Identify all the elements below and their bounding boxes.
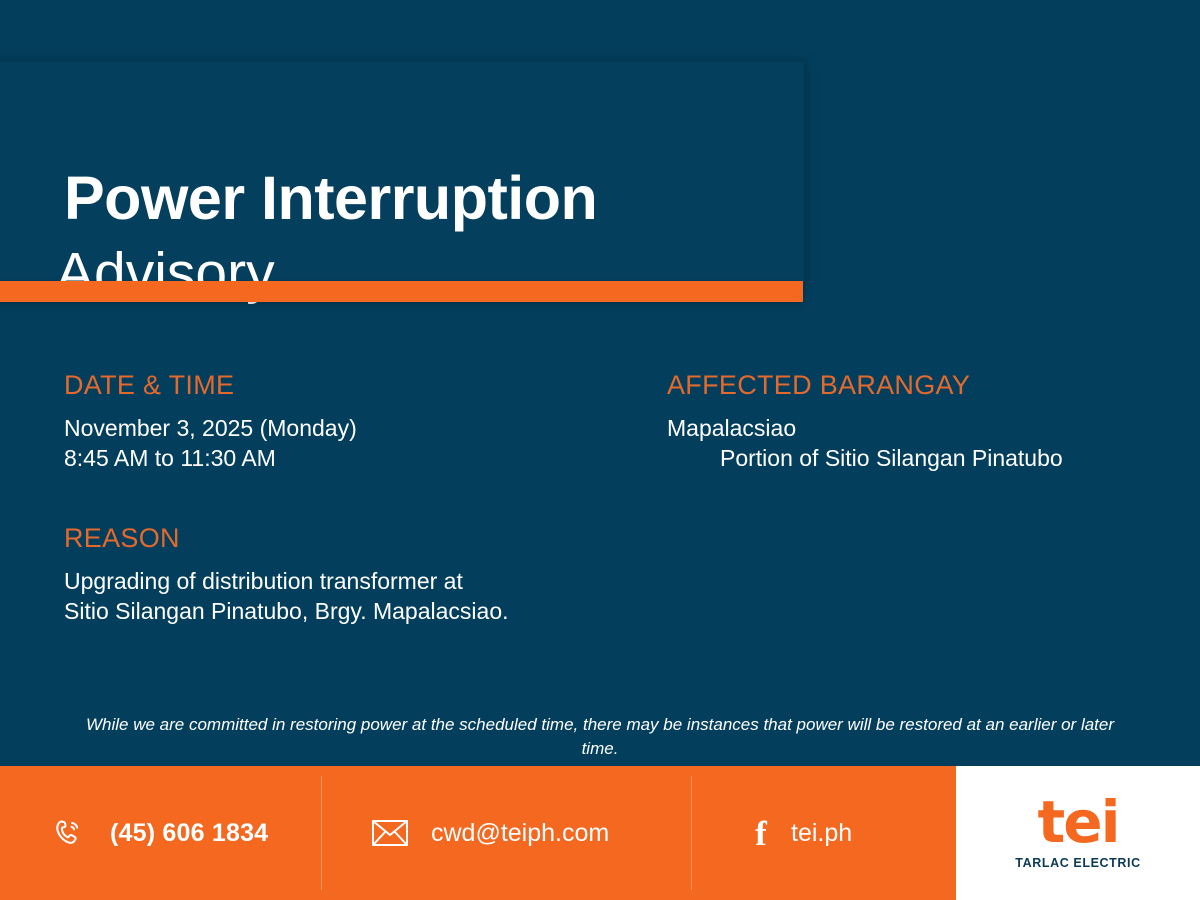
phone-number: (45) 606 1834	[110, 819, 268, 848]
footer-contact-email[interactable]: cwd@teiph.com	[321, 766, 691, 900]
page-title: Power Interruption	[64, 168, 597, 229]
section-heading-reason: REASON	[64, 523, 684, 554]
section-heading-affected-barangay: AFFECTED BARANGAY	[667, 370, 1167, 401]
barangay-name-line: Mapalacsiao	[667, 413, 1167, 443]
phone-icon	[50, 814, 88, 852]
section-heading-date-time: DATE & TIME	[64, 370, 624, 401]
footer-contact-phone[interactable]: (45) 606 1834	[0, 766, 321, 900]
reason-line-1: Upgrading of distribution transformer at	[64, 566, 684, 596]
envelope-icon	[371, 814, 409, 852]
logo-wordmark: tei	[1038, 796, 1119, 848]
date-line: November 3, 2025 (Monday)	[64, 413, 624, 443]
footer-contact-facebook[interactable]: f tei.ph	[691, 766, 956, 900]
barangay-portion-line: Portion of Sitio Silangan Pinatubo	[667, 443, 1167, 473]
footer: (45) 606 1834 cwd@teiph.com f tei.ph tei…	[0, 766, 1200, 900]
section-affected-barangay: AFFECTED BARANGAY Mapalacsiao Portion of…	[667, 370, 1167, 473]
section-body-affected-barangay: Mapalacsiao Portion of Sitio Silangan Pi…	[667, 413, 1167, 473]
facebook-icon: f	[749, 814, 773, 852]
facebook-handle: tei.ph	[791, 819, 852, 848]
section-date-time: DATE & TIME November 3, 2025 (Monday) 8:…	[64, 370, 624, 473]
accent-bar	[0, 281, 803, 302]
logo-subtitle: TARLAC ELECTRIC	[1015, 856, 1140, 870]
section-body-reason: Upgrading of distribution transformer at…	[64, 566, 684, 626]
reason-line-2: Sitio Silangan Pinatubo, Brgy. Mapalacsi…	[64, 596, 684, 626]
disclaimer-text: While we are committed in restoring powe…	[84, 713, 1116, 761]
footer-contact-bar: (45) 606 1834 cwd@teiph.com f tei.ph	[0, 766, 956, 900]
email-address: cwd@teiph.com	[431, 819, 609, 848]
time-line: 8:45 AM to 11:30 AM	[64, 443, 624, 473]
section-reason: REASON Upgrading of distribution transfo…	[64, 523, 684, 626]
section-body-date-time: November 3, 2025 (Monday) 8:45 AM to 11:…	[64, 413, 624, 473]
header-panel: Power Interruption Advisory	[0, 62, 804, 284]
company-logo: tei TARLAC ELECTRIC	[956, 766, 1200, 900]
